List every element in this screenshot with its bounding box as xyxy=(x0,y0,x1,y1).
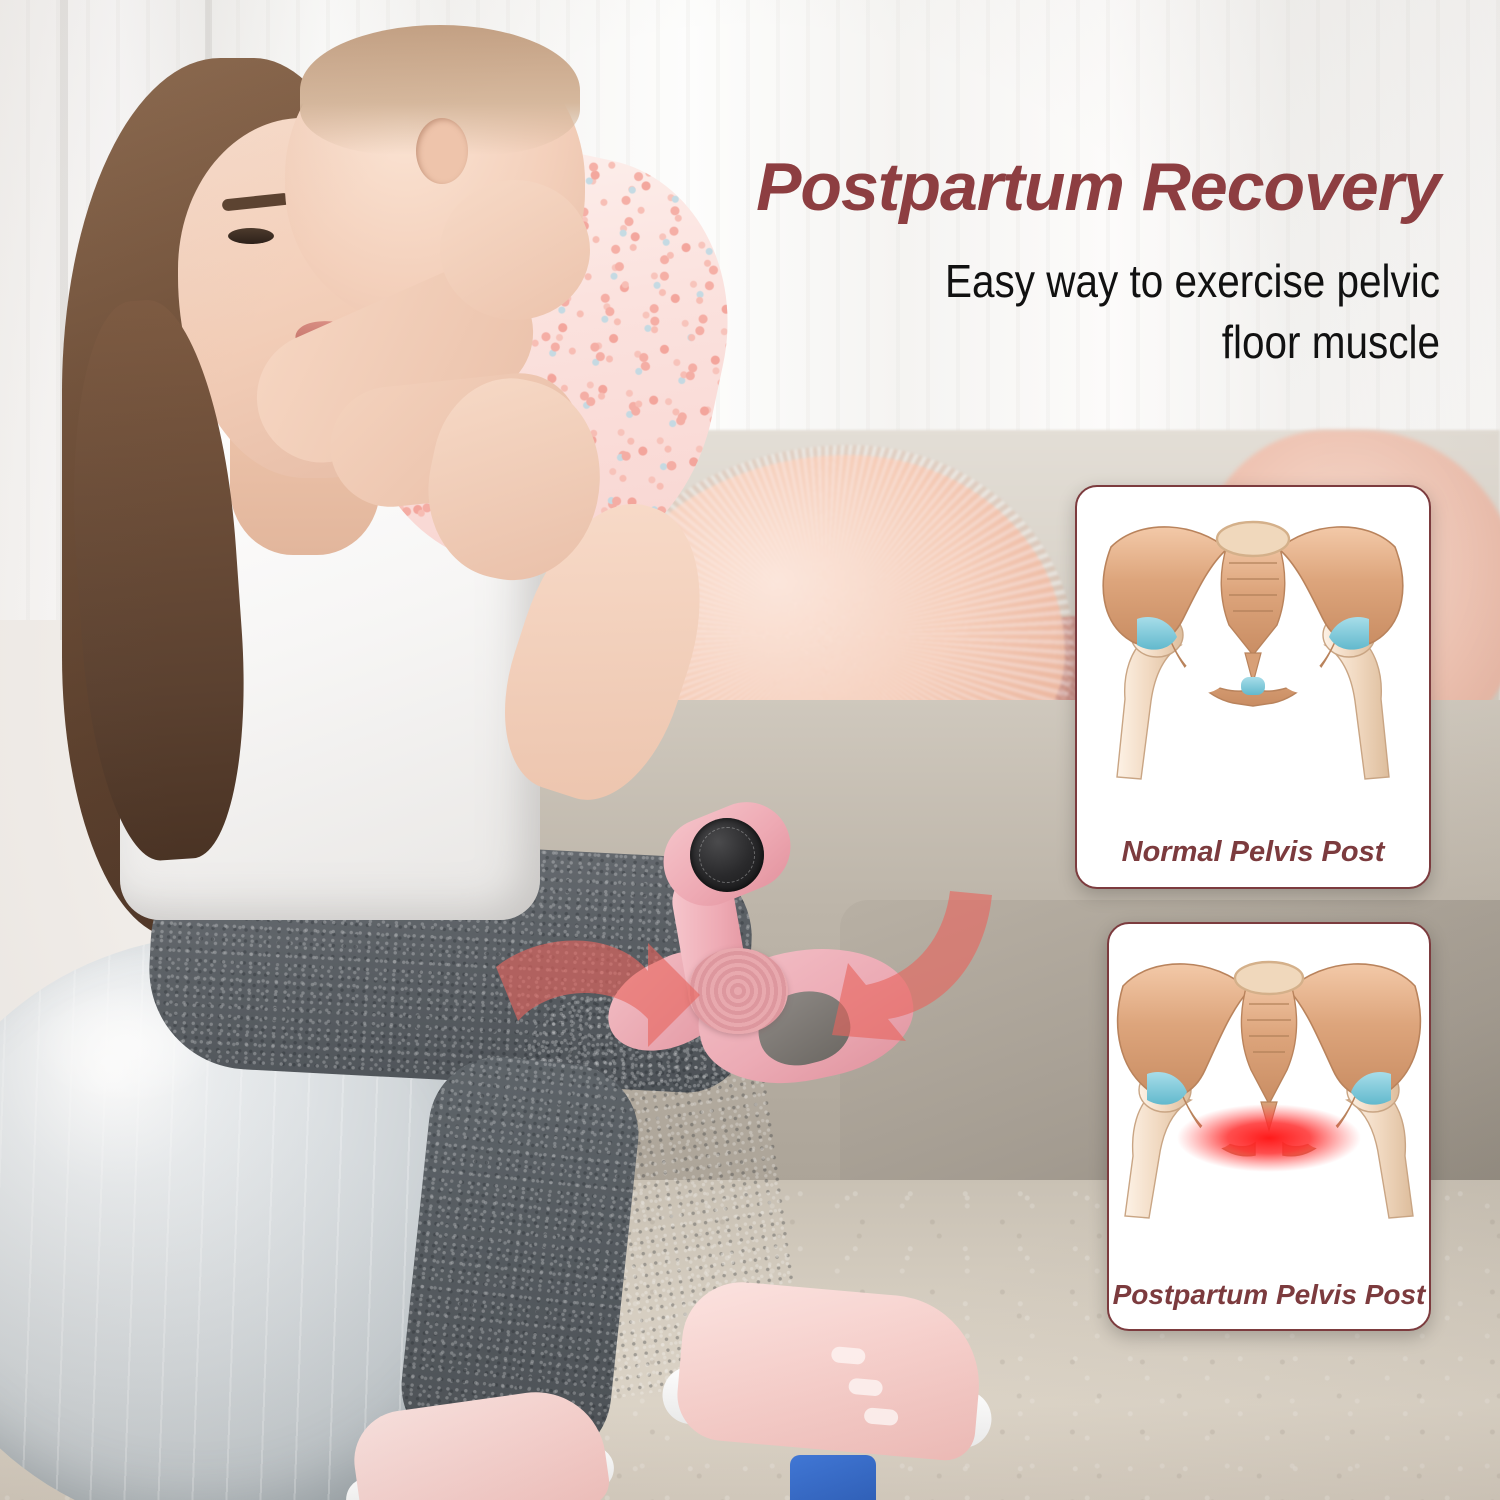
postpartum-pelvis-figure xyxy=(1109,924,1429,1279)
card-normal-pelvis[interactable]: Normal Pelvis Post xyxy=(1075,485,1431,889)
squeeze-arrow-right-icon xyxy=(810,885,1000,1050)
card-caption-postpartum: Postpartum Pelvis Post xyxy=(1109,1279,1429,1329)
postpartum-pelvis-illustration xyxy=(1109,924,1429,1224)
device-display-screen xyxy=(690,818,764,892)
product-infographic: Postpartum Recovery Easy way to exercise… xyxy=(0,0,1500,1500)
blue-object xyxy=(790,1455,876,1500)
card-postpartum-pelvis[interactable]: Postpartum Pelvis Post xyxy=(1107,922,1431,1331)
subtitle-line-1: Easy way to exercise pelvic xyxy=(945,255,1440,307)
pubic-symphysis xyxy=(1241,677,1265,695)
device-grip-pad xyxy=(688,948,788,1034)
normal-pelvis-illustration xyxy=(1077,487,1429,787)
card-caption-normal: Normal Pelvis Post xyxy=(1077,836,1429,887)
squeeze-arrow-left-icon xyxy=(488,925,703,1075)
page-subtitle: Easy way to exercise pelvic floor muscle xyxy=(736,251,1440,372)
woman-eye-left xyxy=(228,228,274,244)
headline-block: Postpartum Recovery Easy way to exercise… xyxy=(640,152,1440,373)
woman-hand-upper xyxy=(440,180,590,320)
page-title: Postpartum Recovery xyxy=(640,152,1440,223)
baby-ear xyxy=(416,118,468,184)
pain-glow xyxy=(1177,1104,1361,1172)
subtitle-line-2: floor muscle xyxy=(1222,316,1440,368)
normal-pelvis-figure xyxy=(1077,487,1429,836)
